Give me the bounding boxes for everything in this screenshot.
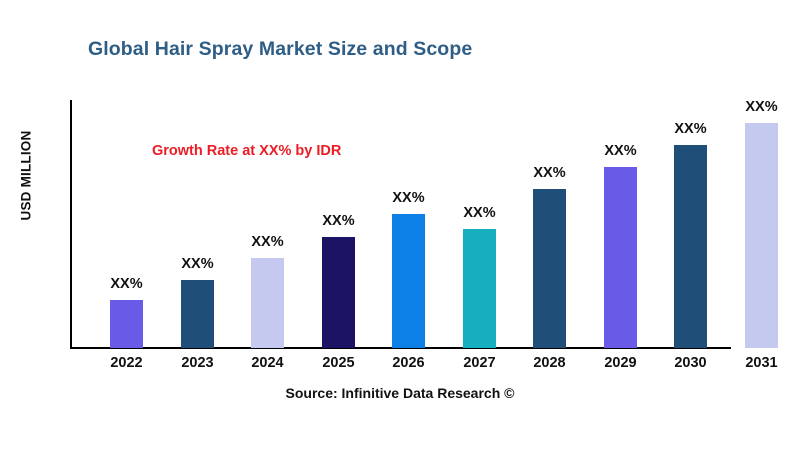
x-tick-label-2029: 2029 [586,355,656,371]
bar-value-label-2027: XX% [445,205,515,221]
x-tick-label-2022: 2022 [92,355,162,371]
bar-2030[interactable] [674,145,707,348]
bar-2022[interactable] [110,300,143,348]
x-tick-label-2028: 2028 [515,355,585,371]
x-tick-label-2026: 2026 [374,355,444,371]
bar-2026[interactable] [392,214,425,348]
x-tick-label-2023: 2023 [163,355,233,371]
bar-value-label-2028: XX% [515,165,585,181]
bar-2031[interactable] [745,123,778,348]
bar-2023[interactable] [181,280,214,348]
x-tick-label-2031: 2031 [727,355,797,371]
bar-2028[interactable] [533,189,566,348]
chart-container: Global Hair Spray Market Size and Scope … [0,0,800,450]
bar-2025[interactable] [322,237,355,348]
bar-value-label-2031: XX% [727,99,797,115]
bar-value-label-2030: XX% [656,121,726,137]
bar-2029[interactable] [604,167,637,348]
bar-value-label-2029: XX% [586,143,656,159]
bar-value-label-2026: XX% [374,190,444,206]
bar-2027[interactable] [463,229,496,348]
bar-2024[interactable] [251,258,284,348]
bar-value-label-2025: XX% [304,213,374,229]
x-tick-label-2024: 2024 [233,355,303,371]
bar-value-label-2024: XX% [233,234,303,250]
x-tick-label-2025: 2025 [304,355,374,371]
source-caption: Source: Infinitive Data Research © [0,385,800,401]
x-tick-label-2027: 2027 [445,355,515,371]
plot-area: XX%2022XX%2023XX%2024XX%2025XX%2026XX%20… [0,0,800,450]
x-tick-label-2030: 2030 [656,355,726,371]
bar-value-label-2023: XX% [163,256,233,272]
bar-value-label-2022: XX% [92,276,162,292]
